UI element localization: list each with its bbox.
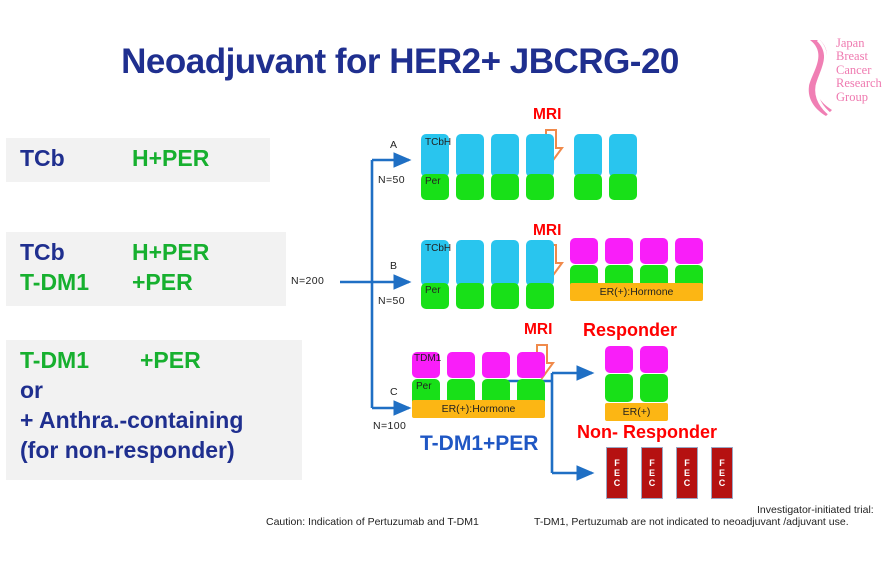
fec-letter-e: E: [614, 468, 620, 478]
block-fec: F E C: [711, 447, 733, 499]
block-tdm1: [482, 352, 510, 378]
block-tcbh: [456, 240, 484, 286]
fec-letter-f: F: [684, 458, 690, 468]
block-per: [526, 174, 554, 200]
responder-label: Responder: [583, 320, 677, 341]
block-tdm1: [447, 352, 475, 378]
block-tdm1: [605, 346, 633, 373]
fec-letter-e: E: [649, 468, 655, 478]
block-per: Per: [421, 283, 449, 309]
fec-letter-c: C: [684, 478, 691, 488]
block-fec: F E C: [641, 447, 663, 499]
footnote-indication: T-DM1, Pertuzumab are not indicated to n…: [534, 516, 849, 528]
block-per: [491, 283, 519, 309]
block-per: [491, 174, 519, 200]
footnote-investigator-line1: Investigator-initiated trial:: [757, 504, 874, 516]
block-tdm1: [517, 352, 545, 378]
block-label: Per: [416, 381, 432, 392]
fec-letter-f: F: [649, 458, 655, 468]
block-fec: F E C: [676, 447, 698, 499]
mri-label-arm-c: MRI: [524, 321, 552, 339]
fec-letter-f: F: [719, 458, 725, 468]
arm-n-b: N=50: [378, 295, 405, 307]
block-tcbh: [491, 240, 519, 286]
block-per: [456, 174, 484, 200]
block-label: Per: [425, 285, 441, 296]
hormone-bar-responder: ER(+): [605, 403, 668, 421]
arm-n-c: N=100: [373, 420, 406, 432]
arm-letter-b: B: [390, 260, 397, 272]
block-tdm1: [605, 238, 633, 264]
block-tcbh: [609, 134, 637, 177]
block-label: Per: [425, 176, 441, 187]
block-fec: F E C: [606, 447, 628, 499]
block-tcbh: TCbH: [421, 240, 449, 286]
block-per: [456, 283, 484, 309]
mri-label-arm-a: MRI: [533, 106, 561, 124]
block-tdm1: [640, 346, 668, 373]
block-tcbh: [456, 134, 484, 177]
block-label: TDM1: [414, 353, 441, 364]
block-tcbh: [526, 240, 554, 286]
mri-label-arm-b: MRI: [533, 222, 561, 240]
fec-letter-e: E: [719, 468, 725, 478]
block-tcbh: [526, 134, 554, 177]
block-tdm1: [640, 238, 668, 264]
arm-letter-c: C: [390, 386, 398, 398]
non-responder-label: Non- Responder: [577, 422, 717, 443]
block-per: [526, 283, 554, 309]
block-tdm1: [675, 238, 703, 264]
block-per: Per: [421, 174, 449, 200]
block-label: TCbH: [425, 243, 451, 254]
arm-n-a: N=50: [378, 174, 405, 186]
block-per: [605, 374, 633, 402]
block-per: [609, 174, 637, 200]
block-tcbh: TCbH: [421, 134, 449, 177]
fec-letter-f: F: [614, 458, 620, 468]
fec-letter-c: C: [614, 478, 621, 488]
block-per: [640, 374, 668, 402]
block-tdm1: TDM1: [412, 352, 440, 378]
arm-letter-a: A: [390, 139, 397, 151]
block-tdm1: [570, 238, 598, 264]
fec-letter-c: C: [719, 478, 726, 488]
fec-letter-e: E: [684, 468, 690, 478]
hormone-bar-arm-b: ER(+):Hormone: [570, 283, 703, 301]
fec-letter-c: C: [649, 478, 656, 488]
tree-total-label: N=200: [291, 275, 324, 287]
block-per: [574, 174, 602, 200]
block-label: TCbH: [425, 137, 451, 148]
footnote-caution: Caution: Indication of Pertuzumab and T-…: [266, 516, 479, 528]
arm-c-regimen-name: T-DM1+PER: [420, 432, 538, 456]
block-tcbh: [574, 134, 602, 177]
hormone-bar-arm-c: ER(+):Hormone: [412, 400, 545, 418]
block-tcbh: [491, 134, 519, 177]
